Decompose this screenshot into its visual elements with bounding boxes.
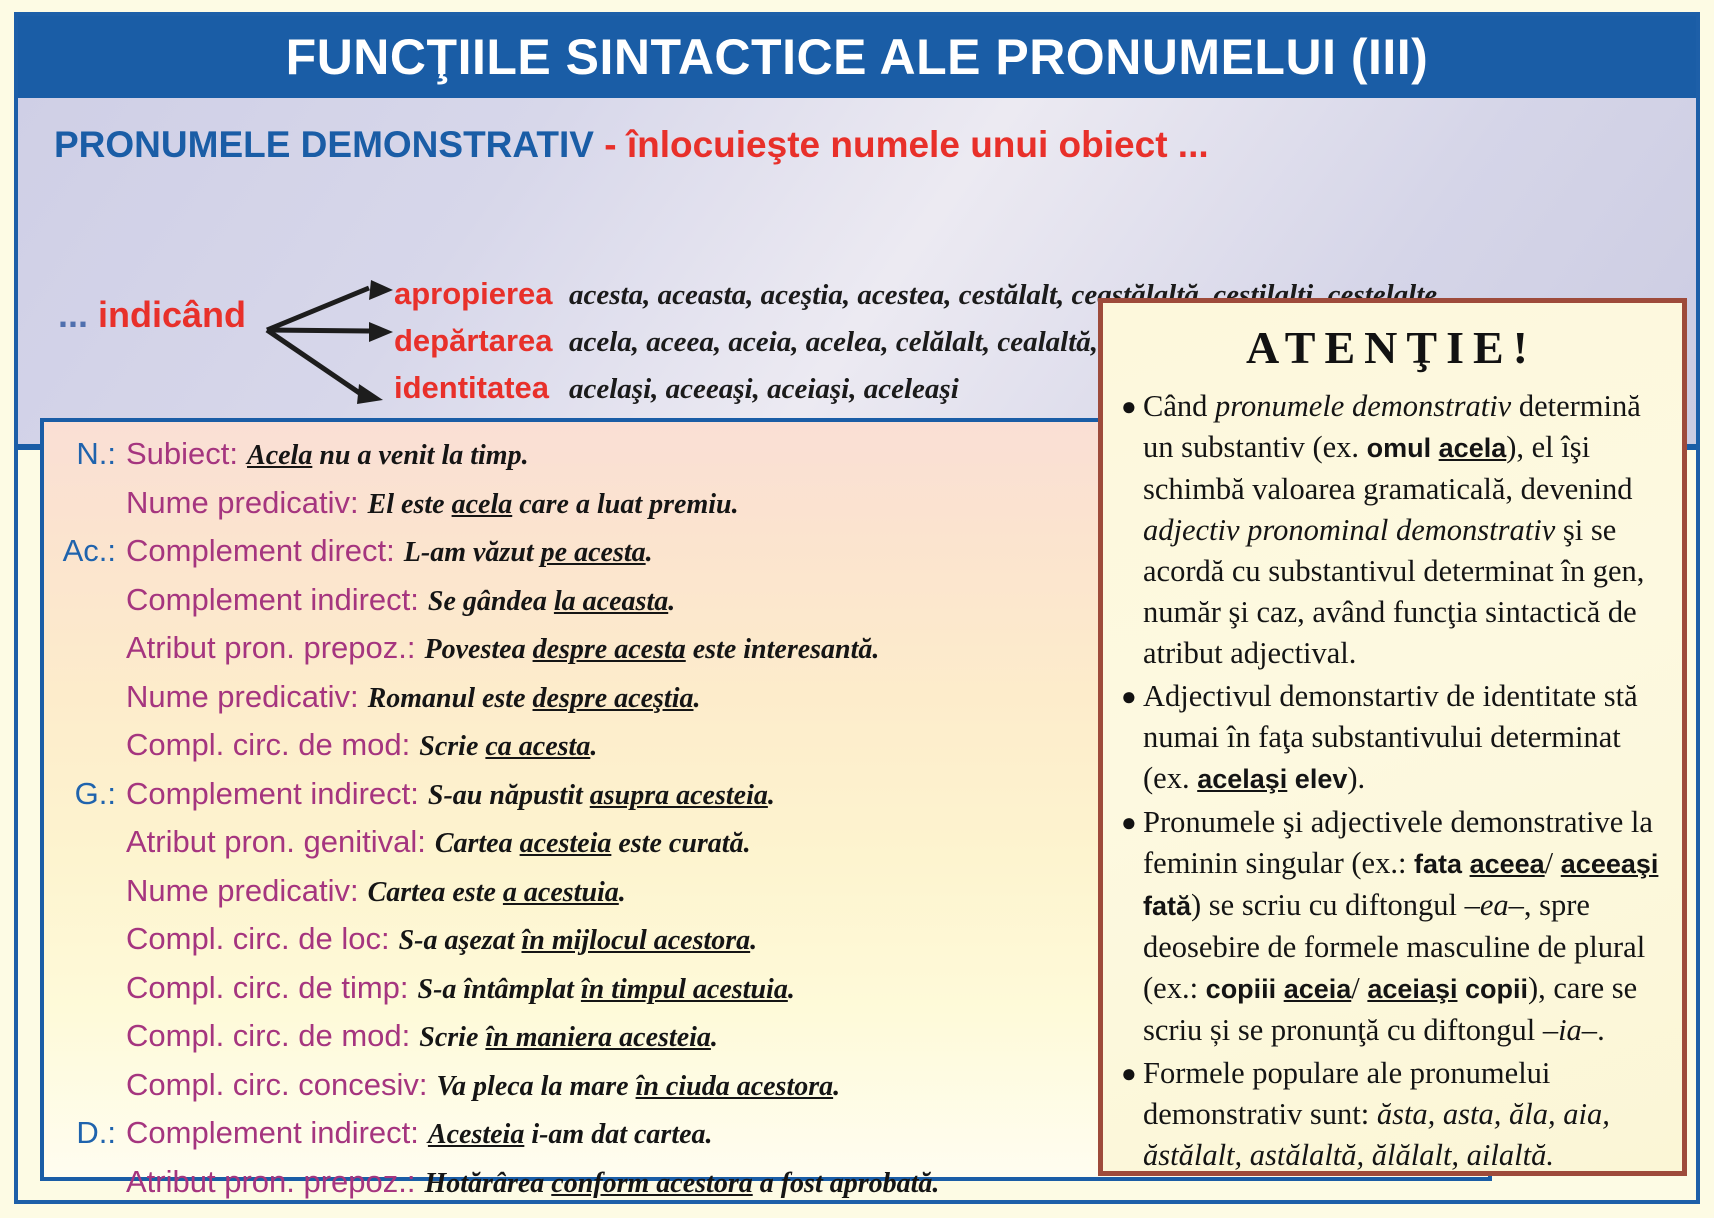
function-label: Complement indirect: (126, 582, 428, 618)
category-words-identitatea: acelaşi, aceeaşi, aceiaşi, aceleaşi (569, 373, 959, 406)
function-row: Nume predicativ:Hotărârea este conform a… (44, 1212, 1488, 1218)
function-example: Se gândea la aceasta. (428, 586, 675, 618)
intro-subtitle: PRONUMELE DEMONSTRATIV - înlocuieşte num… (54, 124, 1209, 166)
function-example: S-a întâmplat în timpul acestuia. (418, 974, 795, 1006)
function-example: Va pleca la mare în ciuda acestora. (436, 1071, 840, 1103)
function-label: Compl. circ. de timp: (126, 970, 418, 1006)
atentie-bullet-text: Adjectivul demonstartiv de identitate st… (1143, 676, 1662, 800)
poster-title-bar: FUNCŢIILE SINTACTICE ALE PRONUMELUI (III… (18, 16, 1696, 98)
function-label: Complement indirect: (126, 1115, 428, 1151)
function-example: Povestea despre acesta este interesantă. (425, 634, 880, 666)
category-label-identitatea: identitatea (394, 370, 569, 406)
case-tag: G.: (60, 776, 126, 812)
atentie-bullet-text: Formele populare ale pronumelui demonstr… (1143, 1053, 1662, 1176)
function-example: S-au năpustit asupra acesteia. (428, 780, 775, 812)
function-example: Hotărârea conform acestora a fost aproba… (425, 1168, 940, 1200)
function-example: El este acela care a luat premiu. (368, 489, 739, 521)
function-example: S-a aşezat în mijlocul acestora. (399, 925, 758, 957)
category-label-apropierea: apropierea (394, 276, 569, 312)
poster-root: FUNCŢIILE SINTACTICE ALE PRONUMELUI (III… (0, 0, 1714, 1218)
atentie-bullet: ●Când pronumele demonstrativ determină u… (1121, 386, 1662, 674)
function-label: Nume predicativ: (126, 679, 368, 715)
bullet-dot-icon: ● (1121, 676, 1143, 717)
function-example: Acela nu a venit la timp. (247, 440, 529, 472)
function-example: Cartea acesteia este curată. (435, 828, 751, 860)
atentie-bullet-list: ●Când pronumele demonstrativ determină u… (1121, 386, 1662, 1176)
function-example: Acesteia i-am dat cartea. (428, 1119, 713, 1151)
function-example: Scrie ca acesta. (419, 731, 597, 763)
page-title: FUNCŢIILE SINTACTICE ALE PRONUMELUI (III… (286, 28, 1429, 86)
fan-arrows-icon (261, 274, 401, 409)
function-label: Nume predicativ: (126, 1212, 368, 1218)
function-example: L-am văzut pe acesta. (404, 537, 653, 569)
atentie-title: ATENŢIE! (1121, 321, 1662, 374)
function-label: Complement indirect: (126, 776, 428, 812)
atentie-bullet: ●Pronumele şi adjectivele demonstrative … (1121, 802, 1662, 1051)
function-label: Compl. circ. de loc: (126, 921, 399, 957)
case-tag: N.: (60, 436, 126, 472)
intro-subtitle-bold: PRONUMELE DEMONSTRATIV (54, 124, 594, 165)
function-label: Atribut pron. prepoz.: (126, 1164, 425, 1200)
indicand-word: indicând (98, 294, 246, 335)
function-label: Subiect: (126, 436, 247, 472)
function-example: Scrie în maniera acesteia. (419, 1022, 718, 1054)
atentie-bullet: ●Adjectivul demonstartiv de identitate s… (1121, 676, 1662, 800)
intro-subtitle-rest: - înlocuieşte numele unui obiect ... (594, 124, 1209, 165)
function-label: Complement direct: (126, 533, 404, 569)
function-label: Atribut pron. genitival: (126, 824, 435, 860)
function-example: Cartea este a acestuia. (368, 877, 626, 909)
function-label: Compl. circ. de mod: (126, 727, 419, 763)
bullet-dot-icon: ● (1121, 1053, 1143, 1094)
indicand-dots: ... (58, 294, 98, 335)
bullet-dot-icon: ● (1121, 386, 1143, 427)
function-label: Nume predicativ: (126, 873, 368, 909)
case-tag: Ac.: (60, 533, 126, 569)
case-tag: D.: (60, 1115, 126, 1151)
indicand-label: ... indicând (58, 294, 246, 336)
atentie-bullet-text: Pronumele şi adjectivele demonstrative l… (1143, 802, 1662, 1051)
function-label: Nume predicativ: (126, 485, 368, 521)
function-label: Compl. circ. de mod: (126, 1018, 419, 1054)
atentie-box: ATENŢIE! ●Când pronumele demonstrativ de… (1098, 298, 1687, 1176)
function-example: Romanul este despre aceştia. (368, 683, 701, 715)
function-label: Atribut pron. prepoz.: (126, 630, 425, 666)
bullet-dot-icon: ● (1121, 802, 1143, 843)
function-label: Compl. circ. concesiv: (126, 1067, 436, 1103)
atentie-bullet-text: Când pronumele demonstrativ determină un… (1143, 386, 1662, 674)
atentie-bullet: ●Formele populare ale pronumelui demonst… (1121, 1053, 1662, 1176)
category-label-departarea: depărtarea (394, 323, 569, 359)
